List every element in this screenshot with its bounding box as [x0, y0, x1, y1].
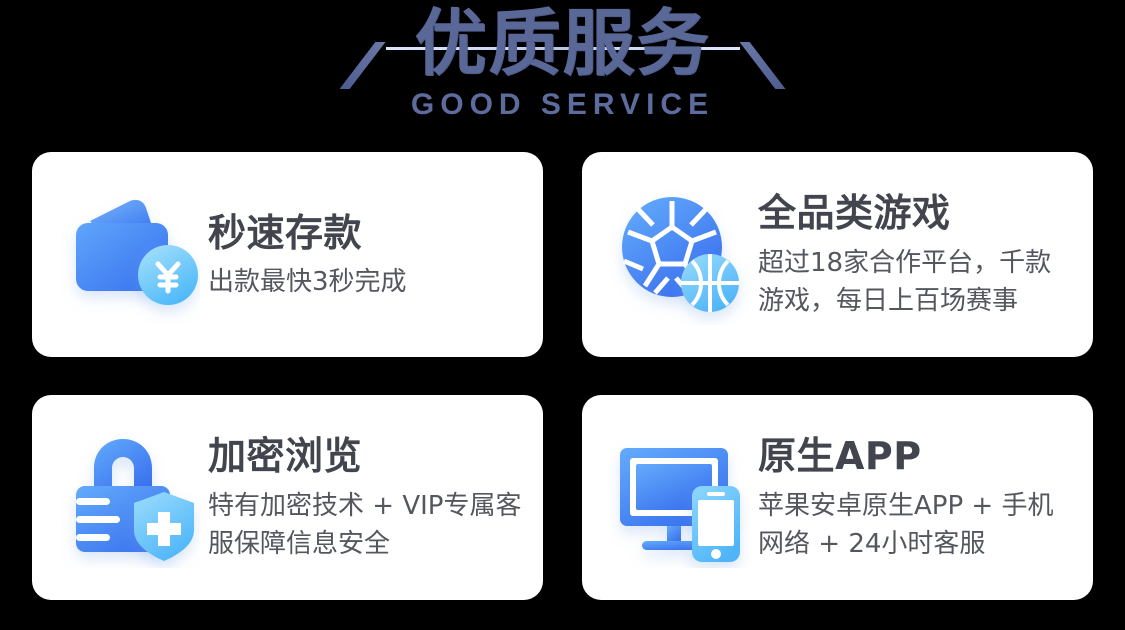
- card-subtitle: 特有加密技术 + VIP专属客 服保障信息安全: [208, 487, 529, 563]
- lock-shield-icon-svg: [60, 428, 200, 568]
- soccer-basketball-icon: [610, 185, 750, 325]
- feature-card-native-app-text: 原生APP 苹果安卓原生APP + 手机 网络 + 24小时客服: [750, 433, 1079, 563]
- card-subtitle-line: 服保障信息安全: [208, 525, 529, 563]
- card-subtitle: 苹果安卓原生APP + 手机 网络 + 24小时客服: [758, 487, 1079, 563]
- promo-banner: 优质服务 GOOD SERVICE: [0, 0, 1125, 630]
- card-title: 原生APP: [758, 433, 1079, 479]
- feature-card-deposit-text: 秒速存款 出款最快3秒完成: [200, 210, 529, 300]
- card-title: 秒速存款: [208, 210, 529, 256]
- monitor-phone-icon: [610, 428, 750, 568]
- header: 优质服务 GOOD SERVICE: [0, 0, 1125, 148]
- card-subtitle-line: 特有加密技术 + VIP专属客: [208, 487, 529, 525]
- feature-card-native-app[interactable]: 原生APP 苹果安卓原生APP + 手机 网络 + 24小时客服: [582, 395, 1093, 600]
- card-title: 全品类游戏: [758, 190, 1079, 236]
- feature-card-grid: 秒速存款 出款最快3秒完成: [32, 152, 1093, 600]
- card-subtitle-line: 苹果安卓原生APP + 手机: [758, 487, 1079, 525]
- feature-card-encryption[interactable]: 加密浏览 特有加密技术 + VIP专属客 服保障信息安全: [32, 395, 543, 600]
- lock-shield-icon: [60, 428, 200, 568]
- wallet-yen-icon-svg: [60, 185, 200, 325]
- card-subtitle: 超过18家合作平台，千款 游戏，每日上百场赛事: [758, 244, 1079, 320]
- card-subtitle-line: 超过18家合作平台，千款: [758, 244, 1079, 282]
- card-subtitle: 出款最快3秒完成: [208, 264, 529, 300]
- card-subtitle-line: 游戏，每日上百场赛事: [758, 282, 1079, 320]
- feature-card-encryption-text: 加密浏览 特有加密技术 + VIP专属客 服保障信息安全: [200, 433, 529, 563]
- feature-card-games-text: 全品类游戏 超过18家合作平台，千款 游戏，每日上百场赛事: [750, 190, 1079, 320]
- page-subtitle: GOOD SERVICE: [411, 88, 714, 122]
- header-title-block: 优质服务 GOOD SERVICE: [0, 0, 1125, 122]
- soccer-basketball-icon-svg: [610, 185, 750, 325]
- feature-card-games[interactable]: 全品类游戏 超过18家合作平台，千款 游戏，每日上百场赛事: [582, 152, 1093, 357]
- card-subtitle-line: 网络 + 24小时客服: [758, 525, 1079, 563]
- page-title: 优质服务: [414, 0, 710, 86]
- monitor-phone-icon-svg: [610, 428, 750, 568]
- card-title: 加密浏览: [208, 433, 529, 479]
- feature-card-deposit[interactable]: 秒速存款 出款最快3秒完成: [32, 152, 543, 357]
- wallet-yen-icon: [60, 185, 200, 325]
